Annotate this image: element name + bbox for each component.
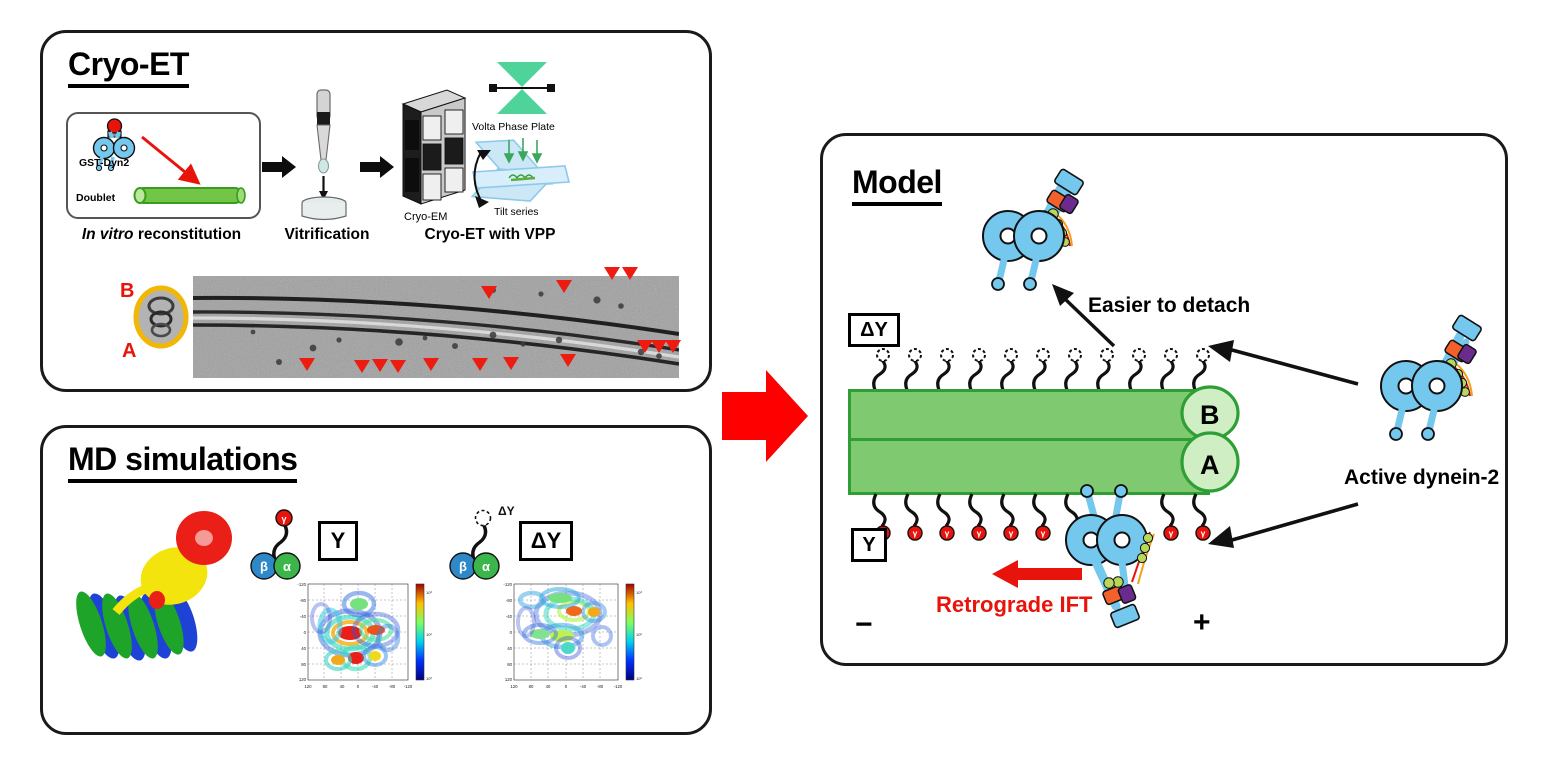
svg-text:10²: 10² bbox=[636, 632, 642, 637]
flow-arrow-2 bbox=[360, 156, 394, 178]
flow-arrow-1 bbox=[262, 156, 296, 178]
svg-text:γ: γ bbox=[1201, 528, 1206, 538]
panel-title-model: Model bbox=[852, 166, 942, 206]
svg-text:γ: γ bbox=[281, 514, 286, 524]
svg-text:10⁰: 10⁰ bbox=[426, 676, 432, 681]
svg-text:10⁰: 10⁰ bbox=[636, 676, 642, 681]
svg-text:80: 80 bbox=[529, 684, 534, 689]
tomo-arrowhead bbox=[472, 358, 488, 371]
svg-text:10³: 10³ bbox=[636, 590, 642, 595]
in-vitro-caption: In vitro reconstitution bbox=[66, 226, 257, 244]
tomo-arrowhead bbox=[665, 340, 681, 353]
retrograde-ift-arrow bbox=[992, 560, 1082, 588]
volta-phase-plate-label: Volta Phase Plate bbox=[472, 121, 555, 133]
tomo-arrowhead bbox=[622, 267, 638, 280]
schematic-tubulin-dy: ΔY β α bbox=[446, 504, 526, 578]
svg-text:120: 120 bbox=[299, 677, 307, 682]
tilt-series-icon bbox=[465, 138, 583, 210]
svg-text:-120: -120 bbox=[614, 684, 623, 689]
doublet-cross-section bbox=[133, 286, 189, 348]
svg-text:-80: -80 bbox=[389, 684, 396, 689]
svg-text:-120: -120 bbox=[404, 684, 413, 689]
svg-text:α: α bbox=[283, 559, 291, 574]
active-dynein-2-cartoon bbox=[1372, 322, 1522, 462]
doublet-label-b: B bbox=[1200, 400, 1220, 431]
svg-text:-120: -120 bbox=[297, 582, 306, 587]
vitrification-icon bbox=[300, 90, 352, 220]
md-plot-dy: -120-80 -400 4080 120 12080 400 -40-80 -… bbox=[490, 578, 648, 700]
tomo-arrowhead bbox=[560, 354, 576, 367]
vitrification-caption: Vitrification bbox=[272, 226, 382, 244]
plus-end-label: + bbox=[1193, 606, 1211, 640]
doublet-tubule-b bbox=[848, 389, 1210, 439]
binding-arrow bbox=[140, 133, 210, 193]
svg-text:-40: -40 bbox=[372, 684, 379, 689]
model-box-label-dy: ΔY bbox=[848, 313, 900, 347]
svg-text:0: 0 bbox=[565, 684, 568, 689]
volta-phase-plate-icon bbox=[487, 62, 557, 120]
red-right-arrow bbox=[722, 370, 810, 462]
svg-text:40: 40 bbox=[507, 646, 512, 651]
tomo-arrowhead bbox=[604, 267, 620, 280]
svg-text:-40: -40 bbox=[300, 614, 307, 619]
svg-text:80: 80 bbox=[507, 662, 512, 667]
in-vitro-italic: In vitro bbox=[82, 226, 134, 243]
svg-text:80: 80 bbox=[323, 684, 328, 689]
tomo-arrowhead bbox=[481, 286, 497, 299]
doublet-label-a: A bbox=[1200, 450, 1220, 481]
dynein-pointer-arrow-top bbox=[1208, 340, 1358, 388]
active-dynein-2-label: Active dynein-2 bbox=[1344, 466, 1499, 490]
schematic-tubulin-wt: γ β α bbox=[247, 508, 313, 578]
svg-text:0: 0 bbox=[510, 630, 513, 635]
tomo-arrowhead bbox=[372, 359, 388, 372]
model-box-label-y: Y bbox=[851, 528, 887, 562]
svg-text:γ: γ bbox=[1041, 528, 1046, 538]
detached-dynein-cartoon bbox=[970, 172, 1100, 297]
svg-text:-40: -40 bbox=[506, 614, 513, 619]
tomo-arrowhead bbox=[390, 360, 406, 373]
panel-title-cryo-et: Cryo-ET bbox=[68, 48, 189, 88]
svg-text:-120: -120 bbox=[503, 582, 512, 587]
svg-text:β: β bbox=[260, 559, 268, 574]
tomo-arrowhead bbox=[423, 358, 439, 371]
cryo-et-vpp-caption: Cryo-ET with VPP bbox=[404, 226, 576, 244]
tomo-arrowhead bbox=[299, 358, 315, 371]
svg-text:γ: γ bbox=[945, 528, 950, 538]
easier-to-detach-label: Easier to detach bbox=[1088, 294, 1250, 318]
svg-text:10²: 10² bbox=[426, 632, 432, 637]
dynein-pointer-arrow-bottom bbox=[1208, 494, 1358, 550]
md-structure-render bbox=[58, 508, 238, 683]
gst-dyn2-label: GST-Dyn2 bbox=[79, 157, 129, 169]
md-plot-y: -120-80 -400 4080 120 12080 400 -40-80 -… bbox=[288, 578, 436, 700]
svg-text:β: β bbox=[459, 559, 467, 574]
tethers-top-group bbox=[868, 348, 1208, 394]
md-box-label-y: Y bbox=[318, 521, 358, 561]
svg-text:-40: -40 bbox=[580, 684, 587, 689]
svg-text:ΔY: ΔY bbox=[498, 504, 515, 518]
svg-text:40: 40 bbox=[546, 684, 551, 689]
svg-text:-80: -80 bbox=[506, 598, 513, 603]
svg-text:-80: -80 bbox=[597, 684, 604, 689]
svg-text:120: 120 bbox=[304, 684, 312, 689]
svg-text:α: α bbox=[482, 559, 490, 574]
svg-text:10³: 10³ bbox=[426, 590, 432, 595]
svg-text:0: 0 bbox=[304, 630, 307, 635]
cryo-em-label: Cryo-EM bbox=[404, 211, 447, 223]
svg-text:γ: γ bbox=[913, 528, 918, 538]
svg-text:40: 40 bbox=[301, 646, 306, 651]
svg-text:γ: γ bbox=[977, 528, 982, 538]
svg-text:-80: -80 bbox=[300, 598, 307, 603]
in-vitro-rest: reconstitution bbox=[134, 226, 242, 243]
md-box-label-dy: ΔY bbox=[519, 521, 573, 561]
svg-text:γ: γ bbox=[1009, 528, 1014, 538]
minus-end-label: − bbox=[855, 608, 873, 642]
svg-text:80: 80 bbox=[301, 662, 306, 667]
svg-text:120: 120 bbox=[505, 677, 513, 682]
tomo-arrowhead bbox=[556, 280, 572, 293]
cryo-em-microscope-icon bbox=[395, 86, 470, 206]
svg-text:40: 40 bbox=[340, 684, 345, 689]
svg-text:0: 0 bbox=[357, 684, 360, 689]
panel-title-md: MD simulations bbox=[68, 443, 297, 483]
tomo-arrowhead bbox=[503, 357, 519, 370]
tilt-series-label: Tilt series bbox=[494, 206, 539, 218]
svg-text:120: 120 bbox=[510, 684, 518, 689]
tomo-arrowhead bbox=[354, 360, 370, 373]
retrograde-ift-label: Retrograde IFT bbox=[936, 592, 1092, 618]
doublet-label: Doublet bbox=[76, 192, 115, 204]
